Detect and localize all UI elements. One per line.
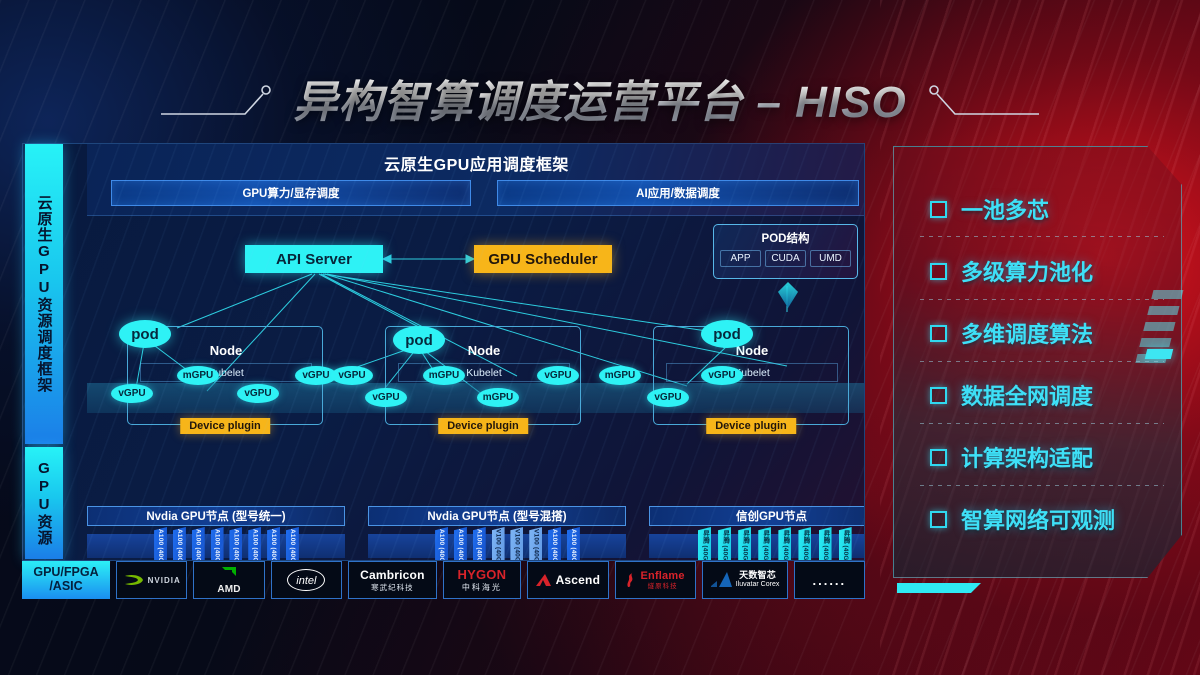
node-label: Node [654,343,850,358]
gpu-card[interactable]: 昇腾 (40G) [758,527,771,561]
feature-separator [920,299,1164,300]
pill-gpu-compute-scheduling[interactable]: GPU算力/显存调度 [111,180,471,206]
pod-struct-cell-app: APP [720,250,761,267]
feature-item-4[interactable]: 数据全网调度 [930,368,1180,422]
vendor-nvidia[interactable]: NVIDIA [116,561,187,599]
title-deco-right [921,78,1041,118]
chip-vgpu[interactable]: vGPU [537,366,579,385]
gpu-card[interactable]: 昇腾 (40G) [698,527,711,561]
pod-ellipse-3[interactable]: pod [701,320,753,348]
gpu-card-label: A100 (40G) [551,529,558,561]
vendor-name: Cambricon [360,568,424,583]
gpu-node-title: Nvdia GPU节点 (型号统一) [87,506,345,526]
device-plugin-badge[interactable]: Device plugin [180,418,270,434]
ellipsis-icon: ...... [812,573,846,588]
feature-label: 一池多芯 [961,193,1049,225]
gpu-card[interactable]: A100 (40G) [454,527,467,561]
ascend-logo-icon [536,573,552,588]
pod-ellipse-1[interactable]: pod [119,320,171,348]
side-tab-gpu-resource: GPU资源 [25,447,63,559]
vendor-sub: 燧原科技 [640,583,684,591]
gpu-card-label: A100 (40G) [457,529,464,561]
device-plugin-badge[interactable]: Device plugin [706,418,796,434]
gpu-card[interactable]: V100 (40G) [510,527,523,561]
gpu-card[interactable]: A100 (40G) [548,527,561,561]
chip-mgpu[interactable]: mGPU [423,366,465,385]
gpu-card[interactable]: 昇腾 (40G) [738,527,751,561]
iluvatar-logo-icon [711,572,733,588]
gpu-card-label: V100 (40G) [513,529,520,561]
feature-item-1[interactable]: 一池多芯 [930,182,1180,236]
kubelet-box: Kubelet [140,363,312,382]
gpu-card[interactable]: A100 (40G) [435,527,448,561]
gpu-card[interactable]: A100 (40G) [173,527,186,561]
feature-item-5[interactable]: 计算架构适配 [930,430,1180,484]
chip-mgpu[interactable]: mGPU [177,366,219,385]
gpu-card[interactable]: A100 (40G) [473,527,486,561]
intel-logo-icon: intel [287,569,325,591]
gpu-node-title: Nvdia GPU节点 (型号混搭) [368,506,626,526]
gpu-card-label: 昇腾 (40G) [780,530,790,561]
diagram-header-band: 云原生GPU应用调度框架 GPU算力/显存调度 AI应用/数据调度 [87,144,865,216]
chip-mgpu[interactable]: mGPU [477,388,519,407]
gpu-card-label: V100 (40G) [532,529,539,561]
gpu-card-label: A100 (40G) [232,529,239,561]
gpu-card-stack: A100 (40G)A100 (40G)A100 (40G)V100 (40G)… [368,527,626,561]
chip-vgpu[interactable]: vGPU [365,388,407,407]
gpu-card-label: A100 (40G) [289,529,296,561]
nvidia-logo-icon [123,573,145,588]
feature-item-3[interactable]: 多维调度算法 [930,306,1180,360]
gpu-card-label: 昇腾 (40G) [740,530,750,561]
gpu-card-label: A100 (40G) [251,529,258,561]
checkbox-icon [930,201,947,218]
gpu-card-label: 昇腾 (40G) [820,530,830,561]
gpu-card-label: 昇腾 (40G) [720,530,730,561]
vendor-name: Ascend [556,573,601,587]
title-deco-left [159,78,279,118]
vendor-name: 天数智芯 [736,570,780,581]
gpu-card[interactable]: A100 (40G) [267,527,280,561]
gpu-card-label: 昇腾 (40G) [700,530,710,561]
gpu-card-label: A100 (40G) [214,529,221,561]
gpu-card[interactable]: A100 (40G) [286,527,299,561]
feature-label: 多级算力池化 [961,255,1093,287]
feature-label: 智算网络可观测 [961,503,1115,535]
checkbox-icon [930,263,947,280]
checkbox-icon [930,325,947,342]
chip-vgpu[interactable]: vGPU [701,366,743,385]
pod-structure-box: POD结构 APP CUDA UMD [713,224,858,279]
vendor-iluvatar[interactable]: 天数智芯 Iluvatar Corex [702,561,787,599]
pod-structure-title: POD结构 [714,230,857,246]
gpu-card[interactable]: A100 (40G) [248,527,261,561]
vendor-more[interactable]: ...... [794,561,865,599]
checkbox-icon [930,511,947,528]
feature-label: 多维调度算法 [961,317,1093,349]
gpu-card[interactable]: A100 (40G) [154,527,167,561]
vendor-category-label: GPU/FPGA /ASIC [22,561,110,599]
vendor-hygon[interactable]: HYGON 中科海光 [443,561,521,599]
page-title: 异构智算调度运营平台 – HISO [293,66,907,130]
gpu-scheduler-box[interactable]: GPU Scheduler [474,245,612,273]
vendor-name: HYGON [458,567,507,583]
feature-separator [920,361,1164,362]
vendor-label-line2: /ASIC [33,580,98,594]
gpu-card[interactable]: V100 (40G) [492,527,505,561]
gpu-card[interactable]: V100 (40G) [529,527,542,561]
pod-structure-cells: APP CUDA UMD [714,246,857,267]
gpu-card-label: 昇腾 (40G) [840,530,850,561]
gpu-card-label: A100 (40G) [270,529,277,561]
gpu-node-group-2: Nvdia GPU节点 (型号混搭) A100 (40G)A100 (40G)A… [368,506,626,561]
gpu-card-label: A100 (40G) [195,529,202,561]
vendor-cambricon[interactable]: Cambricon 寒武纪科技 [348,561,437,599]
side-tab-framework: 云原生GPU资源调度框架 [25,144,63,444]
vendor-ascend[interactable]: Ascend [527,561,609,599]
gpu-card[interactable]: A100 (40G) [567,527,580,561]
pod-struct-cell-cuda: CUDA [765,250,806,267]
device-plugin-badge[interactable]: Device plugin [438,418,528,434]
vendor-name: NVIDIA [148,576,181,585]
feature-label: 计算架构适配 [961,441,1093,473]
pod-link-diamond [778,282,798,308]
architecture-diagram: 云原生GPU应用调度框架 GPU算力/显存调度 AI应用/数据调度 [22,143,865,561]
vendor-logo-strip: GPU/FPGA /ASIC NVIDIA AMD intel Cambrico… [22,561,865,599]
gpu-card[interactable]: A100 (40G) [229,527,242,561]
pod-ellipse-2[interactable]: pod [393,326,445,354]
vendor-label-line1: GPU/FPGA [33,566,98,580]
kubelet-box: Kubelet [666,363,838,382]
gpu-card[interactable]: 昇腾 (40G) [819,527,832,561]
vendor-name: AMD [217,584,240,595]
vendor-sub: 寒武纪科技 [360,583,424,592]
gpu-card-label: A100 (40G) [570,529,577,561]
gpu-card-stack: 昇腾 (40G)昇腾 (40G)昇腾 (40G)昇腾 (40G)昇腾 (40G)… [649,527,865,561]
gpu-node-title: 信创GPU节点 [649,506,865,526]
gpu-card-label: A100 (40G) [476,529,483,561]
feature-separator [920,485,1164,486]
gpu-card-stack: A100 (40G)A100 (40G)A100 (40G)A100 (40G)… [87,527,345,561]
gpu-card[interactable]: A100 (40G) [211,527,224,561]
checkbox-icon [930,449,947,466]
chip-mgpu[interactable]: mGPU [599,366,641,385]
gpu-card[interactable]: 昇腾 (40G) [798,527,811,561]
gpu-card-label: A100 (40G) [157,529,164,561]
amd-logo-icon [219,565,239,579]
gpu-card-label: V100 (40G) [495,529,502,561]
vendor-intel[interactable]: intel [271,561,342,599]
feature-item-6[interactable]: 智算网络可观测 [930,492,1180,546]
vendor-sub: 中科海光 [458,583,507,593]
gpu-card[interactable]: 昇腾 (40G) [718,527,731,561]
checkbox-icon [930,387,947,404]
vendor-name: Enflame [640,570,684,583]
gpu-card-label: A100 (40G) [438,529,445,561]
gpu-card[interactable]: 昇腾 (40G) [778,527,791,561]
panel-corner-accent [897,583,981,593]
api-server-box[interactable]: API Server [245,245,383,273]
diagram-header-title: 云原生GPU应用调度框架 [87,151,865,175]
chip-vgpu[interactable]: vGPU [111,384,153,403]
gpu-card-label: A100 (40G) [176,529,183,561]
chip-vgpu[interactable]: vGPU [647,388,689,407]
gpu-node-group-3: 信创GPU节点 昇腾 (40G)昇腾 (40G)昇腾 (40G)昇腾 (40G)… [649,506,865,561]
gpu-card-label: 昇腾 (40G) [760,530,770,561]
feature-item-2[interactable]: 多级算力池化 [930,244,1180,298]
vendor-enflame[interactable]: Enflame 燧原科技 [615,561,697,599]
vendor-amd[interactable]: AMD [193,561,264,599]
gpu-card-label: 昇腾 (40G) [800,530,810,561]
enflame-logo-icon [626,572,638,588]
gpu-card[interactable]: A100 (40G) [192,527,205,561]
chip-vgpu[interactable]: vGPU [237,384,279,403]
vendor-sub: Iluvatar Corex [736,581,780,589]
feature-separator [920,236,1164,237]
vendor-name: intel [296,575,316,587]
pill-ai-data-scheduling[interactable]: AI应用/数据调度 [497,180,859,206]
gpu-resource-row: Nvdia GPU节点 (型号统一) A100 (40G)A100 (40G)A… [87,506,865,561]
pod-struct-cell-umd: UMD [810,250,851,267]
feature-label: 数据全网调度 [961,379,1093,411]
gpu-card[interactable]: 昇腾 (40G) [839,527,852,561]
chip-vgpu[interactable]: vGPU [331,366,373,385]
title-bar: 异构智算调度运营平台 – HISO [0,62,1200,134]
feature-separator [920,423,1164,424]
k8s-layer: API Server GPU Scheduler POD结构 APP CUDA … [87,216,865,506]
gpu-node-group-1: Nvdia GPU节点 (型号统一) A100 (40G)A100 (40G)A… [87,506,345,561]
node-box: Node Kubelet Device plugin [653,326,849,425]
